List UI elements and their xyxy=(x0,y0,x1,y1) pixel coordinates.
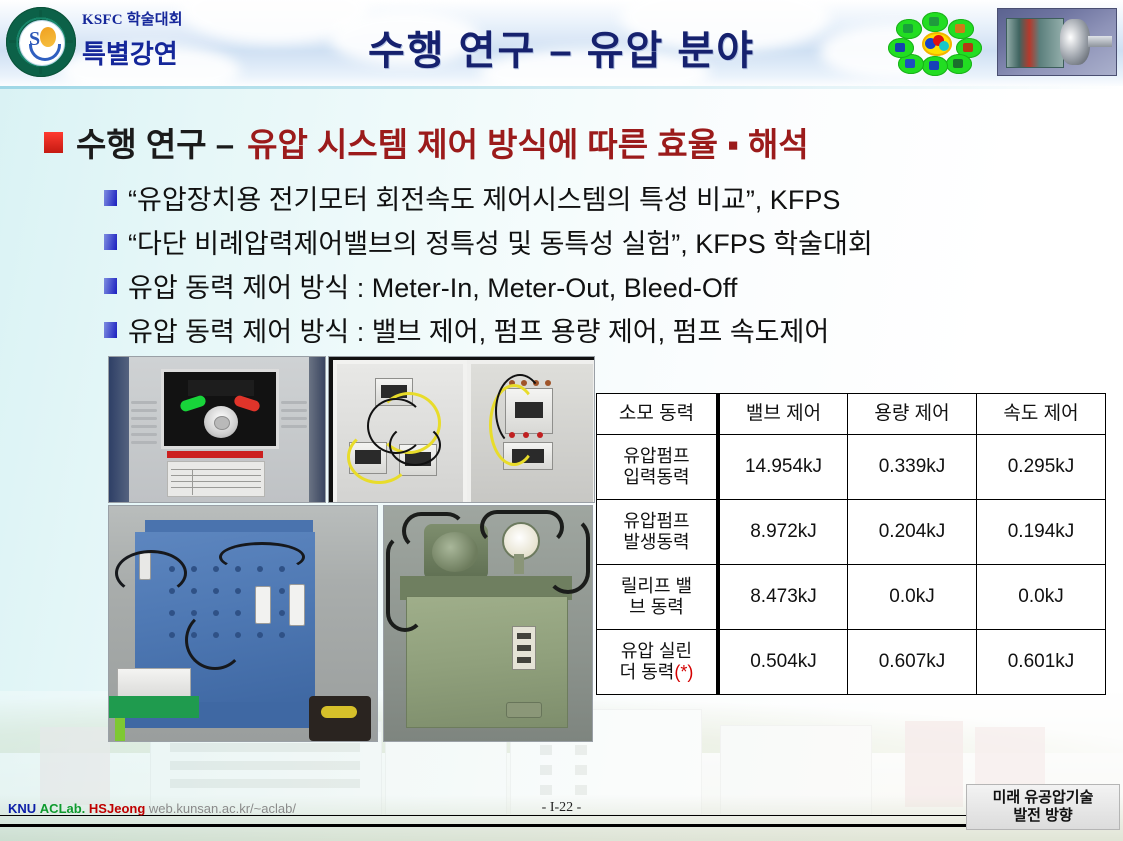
table-header-row: 소모 동력 밸브 제어 용량 제어 속도 제어 xyxy=(597,394,1106,435)
row-label-line1: 유압 실린 xyxy=(621,641,692,661)
row-label: 유압펌프 입력동력 xyxy=(597,435,719,500)
table-row: 유압펌프 입력동력 14.954kJ 0.339kJ 0.295kJ xyxy=(597,435,1106,500)
corner-badge: 미래 유공압기술 발전 방향 xyxy=(966,784,1120,830)
footer-thick-rule xyxy=(0,824,1090,827)
sub-bullet-4: 유압 동력 제어 방식 : 밸브 제어, 펌프 용량 제어, 펌프 속도제어 xyxy=(104,310,829,349)
cell-speed: 0.295kJ xyxy=(977,435,1106,500)
row-label: 릴리프 밸 브 동력 xyxy=(597,565,719,630)
photo-green-power-unit xyxy=(383,505,593,742)
row-label-line2: 입력동력 xyxy=(623,467,689,487)
table-row: 유압펌프 발생동력 8.972kJ 0.204kJ 0.194kJ xyxy=(597,500,1106,565)
table-row: 유압 실린 더 동력(*) 0.504kJ 0.607kJ 0.601kJ xyxy=(597,630,1106,695)
sub-bullet-2-label: “다단 비례압력제어밸브의 정특성 및 동특성 실험”, KFPS 학술대회 xyxy=(128,222,873,261)
cell-speed: 0.601kJ xyxy=(977,630,1106,695)
header-divider xyxy=(0,86,1123,89)
motor-rotor-photo xyxy=(997,8,1117,76)
corner-badge-line1: 미래 유공압기술 xyxy=(993,789,1094,807)
row-label-asterisk: (*) xyxy=(674,662,693,682)
sub-bullet-1: “유압장치용 전기모터 회전속도 제어시스템의 특성 비교”, KFPS xyxy=(104,178,840,217)
corner-badge-line2: 발전 방향 xyxy=(1013,807,1072,825)
cell-valve: 8.473kJ xyxy=(718,565,848,630)
flower-graphic-icon xyxy=(888,12,986,74)
cell-valve: 0.504kJ xyxy=(718,630,848,695)
cell-valve: 8.972kJ xyxy=(718,500,848,565)
row-label-line1: 릴리프 밸 xyxy=(621,576,692,596)
row-label-line2: 발생동력 xyxy=(623,532,689,552)
cell-speed: 0.0kJ xyxy=(977,565,1106,630)
cell-capacity: 0.339kJ xyxy=(848,435,977,500)
table-row: 릴리프 밸 브 동력 8.473kJ 0.0kJ 0.0kJ xyxy=(597,565,1106,630)
blue-square-bullet-icon xyxy=(104,190,117,206)
photo-control-boxes xyxy=(328,356,595,503)
main-bullet: 수행 연구 – 유압 시스템 제어 방식에 따른 효율 ▪ 해석 xyxy=(44,118,809,166)
table-header-cell-0: 소모 동력 xyxy=(597,394,719,435)
table-header-cell-3: 속도 제어 xyxy=(977,394,1106,435)
row-label: 유압펌프 발생동력 xyxy=(597,500,719,565)
table-header-cell-2: 용량 제어 xyxy=(848,394,977,435)
row-label: 유압 실린 더 동력(*) xyxy=(597,630,719,695)
page-number: - I-22 - xyxy=(0,800,1123,816)
cell-valve: 14.954kJ xyxy=(718,435,848,500)
sub-bullet-1-label: “유압장치용 전기모터 회전속도 제어시스템의 특성 비교”, KFPS xyxy=(128,178,840,217)
sub-bullet-3-label: 유압 동력 제어 방식 : Meter-In, Meter-Out, Bleed… xyxy=(128,266,737,305)
cell-speed: 0.194kJ xyxy=(977,500,1106,565)
cell-capacity: 0.204kJ xyxy=(848,500,977,565)
slide-canvas: S KSFC 학술대회 특별강연 수행 연구 – 유압 분야 수행 연구 – 유… xyxy=(0,0,1123,841)
main-bullet-black-text: 수행 연구 – xyxy=(76,118,234,166)
photo-blue-test-bench xyxy=(108,505,378,742)
sub-bullet-4-label: 유압 동력 제어 방식 : 밸브 제어, 펌프 용량 제어, 펌프 속도제어 xyxy=(128,310,829,349)
main-bullet-red-text: 유압 시스템 제어 방식에 따른 효율 ▪ 해석 xyxy=(247,118,809,166)
row-label-line2: 더 동력 xyxy=(620,662,675,682)
blue-square-bullet-icon xyxy=(104,234,117,250)
blue-square-bullet-icon xyxy=(104,278,117,294)
row-label-line1: 유압펌프 xyxy=(623,511,689,531)
cell-capacity: 0.607kJ xyxy=(848,630,977,695)
photo-inverter-drive xyxy=(108,356,326,503)
table-header-cell-1: 밸브 제어 xyxy=(718,394,848,435)
red-square-bullet-icon xyxy=(44,132,63,153)
cell-capacity: 0.0kJ xyxy=(848,565,977,630)
row-label-line2: 브 동력 xyxy=(629,597,684,617)
blue-square-bullet-icon xyxy=(104,322,117,338)
row-label-line1: 유압펌프 xyxy=(623,446,689,466)
sub-bullet-3: 유압 동력 제어 방식 : Meter-In, Meter-Out, Bleed… xyxy=(104,266,737,305)
sub-bullet-2: “다단 비례압력제어밸브의 정특성 및 동특성 실험”, KFPS 학술대회 xyxy=(104,222,873,261)
power-consumption-table: 소모 동력 밸브 제어 용량 제어 속도 제어 유압펌프 입력동력 14.954… xyxy=(596,393,1106,695)
